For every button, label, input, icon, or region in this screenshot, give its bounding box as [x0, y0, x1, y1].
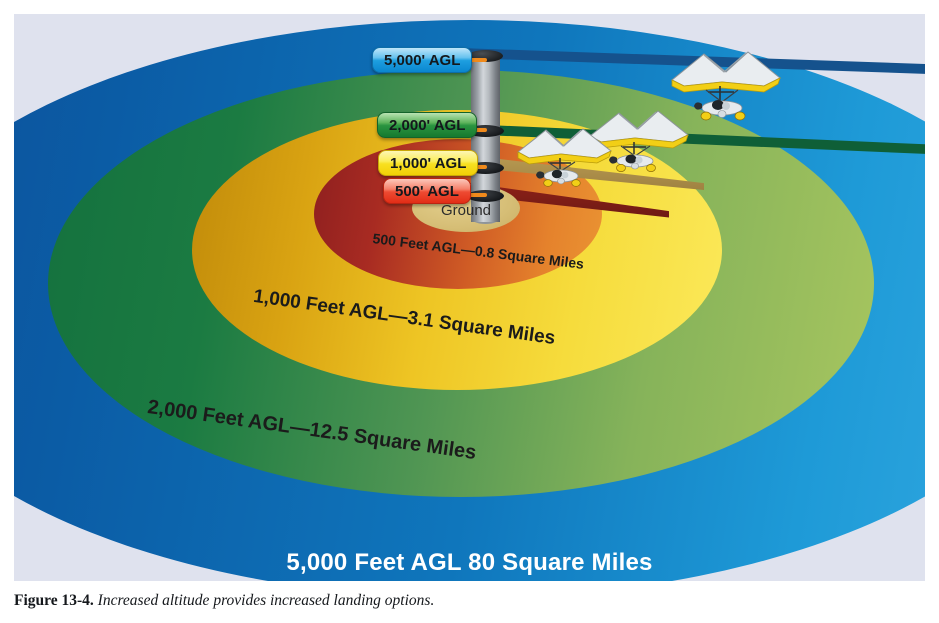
figure-description: Increased altitude provides increased la…: [98, 592, 435, 609]
figure-caption: Figure 13-4. Increased altitude provides…: [14, 592, 914, 610]
trike-aircraft-icon: [509, 124, 619, 190]
ring-label-5000: 5,000 Feet AGL 80 Square Miles: [14, 549, 925, 577]
altitude-pill-500: 500' AGL: [383, 178, 471, 204]
altitude-pill-2000: 2,000' AGL: [377, 112, 477, 138]
figure-number: Figure 13-4.: [14, 592, 94, 609]
altitude-pill-5000: 5,000' AGL: [372, 47, 472, 73]
figure-illustration: 5,000' AGL 2,000' AGL 1,000' AGL 500' AG…: [14, 14, 925, 581]
altitude-pill-1000: 1,000' AGL: [378, 150, 478, 176]
ground-label: Ground: [412, 202, 520, 219]
